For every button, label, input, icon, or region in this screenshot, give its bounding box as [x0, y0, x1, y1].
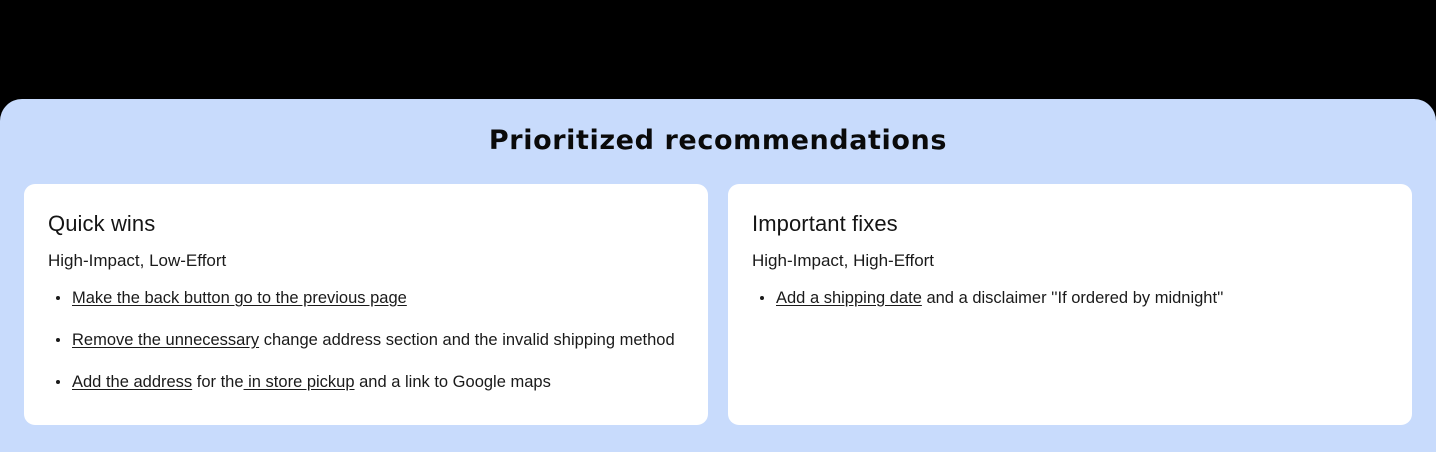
list-item-text: and a disclaimer ''If ordered by midnigh…: [922, 289, 1224, 307]
card-title: Quick wins: [48, 210, 684, 238]
bullet-icon: [56, 380, 60, 384]
card-subtitle: High-Impact, Low-Effort: [48, 250, 684, 272]
highlighted-text: in store pickup: [244, 373, 355, 391]
card-subtitle: High-Impact, High-Effort: [752, 250, 1388, 272]
bullet-icon: [56, 338, 60, 342]
list-item: Add a shipping date and a disclaimer ''I…: [752, 288, 1388, 309]
recommendation-cards: Quick wins High-Impact, Low-Effort Make …: [24, 184, 1412, 425]
highlighted-text: Add the address: [72, 373, 192, 391]
list-item: Make the back button go to the previous …: [48, 288, 684, 309]
list-item-text: and a link to Google maps: [355, 373, 551, 391]
list-item-text: for the: [192, 373, 243, 391]
list-item: Remove the unnecessary change address se…: [48, 330, 684, 351]
recommendations-panel: Prioritized recommendations Quick wins H…: [0, 99, 1436, 452]
list-item: Add the address for the in store pickup …: [48, 372, 684, 393]
bullet-icon: [56, 296, 60, 300]
page-title: Prioritized recommendations: [0, 122, 1436, 160]
highlighted-text: Add a shipping date: [776, 289, 922, 307]
recommendation-list: Add a shipping date and a disclaimer ''I…: [752, 288, 1388, 309]
card-important-fixes: Important fixes High-Impact, High-Effort…: [728, 184, 1412, 425]
bullet-icon: [760, 296, 764, 300]
list-item-text: change address section and the invalid s…: [259, 331, 675, 349]
screenshot-root: Prioritized recommendations Quick wins H…: [0, 0, 1436, 452]
recommendation-list: Make the back button go to the previous …: [48, 288, 684, 393]
card-title: Important fixes: [752, 210, 1388, 238]
card-quick-wins: Quick wins High-Impact, Low-Effort Make …: [24, 184, 708, 425]
highlighted-text: Remove the unnecessary: [72, 331, 259, 349]
highlighted-text: Make the back button go to the previous …: [72, 289, 407, 307]
